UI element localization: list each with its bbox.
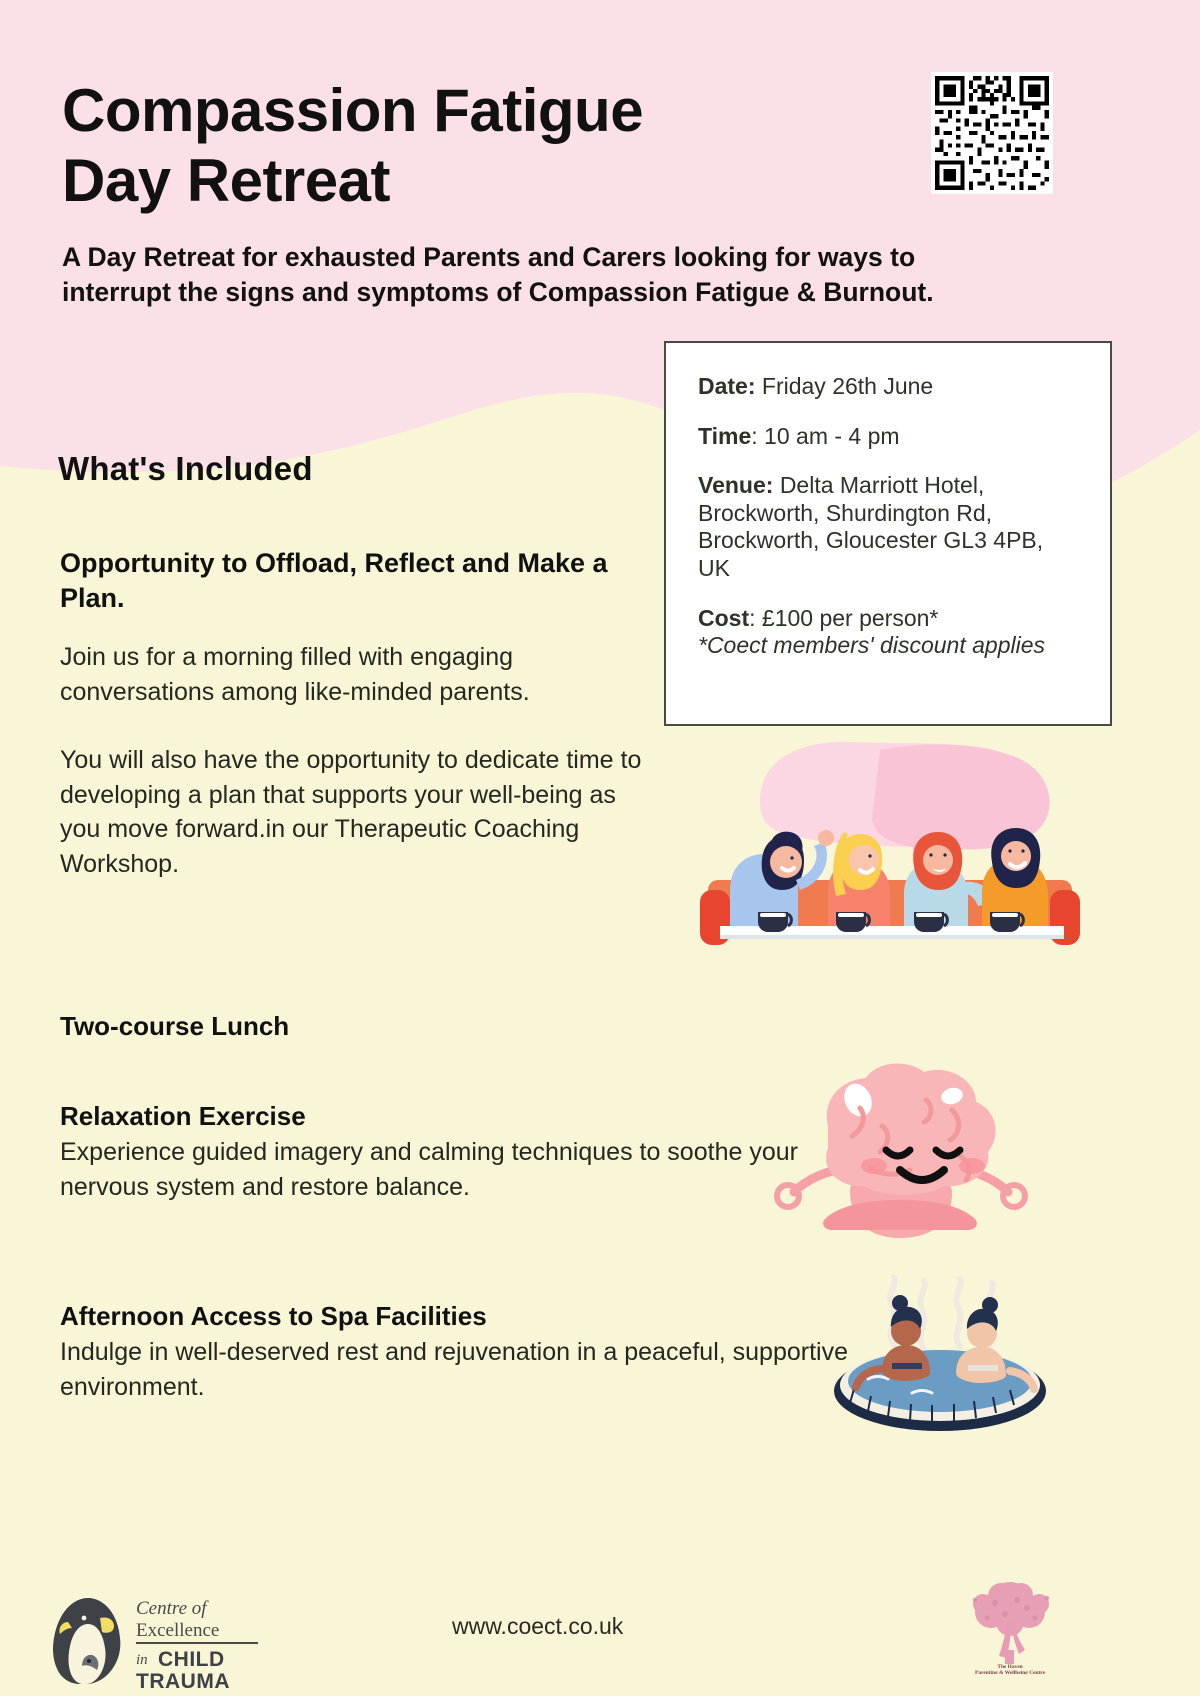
section-heading-included: What's Included [58, 450, 313, 488]
detail-date-label: Date: [698, 373, 756, 399]
women-talking-coffee-illustration [700, 730, 1080, 955]
svg-text:Centre of: Centre of [136, 1598, 209, 1619]
detail-time-value: : 10 am - 4 pm [751, 423, 899, 449]
included-block-paragraph: You will also have the opportunity to de… [60, 743, 660, 881]
included-block-heading: Afternoon Access to Spa Facilities [60, 1300, 850, 1333]
svg-text:Excellence: Excellence [136, 1620, 219, 1641]
pink-tree-logo-icon: The Haven Parenting & Wellbeing Centre [955, 1578, 1065, 1696]
detail-date-value: Friday 26th June [762, 373, 933, 399]
detail-cost-label: Cost [698, 605, 749, 631]
detail-cost-note: *Coect members' discount applies [698, 632, 1080, 660]
penguin-logo-icon: Centre of Excellence in CHILD TRAUMA [40, 1588, 270, 1688]
detail-cost-value: : £100 per person* [749, 605, 938, 631]
included-block-spa: Afternoon Access to Spa Facilities Indul… [60, 1300, 850, 1404]
detail-cost: Cost: £100 per person* *Coect members' d… [698, 605, 1080, 660]
included-block-paragraph: Join us for a morning filled with engagi… [60, 640, 660, 709]
svg-text:in: in [136, 1652, 148, 1668]
included-block-lunch: Two-course Lunch [60, 1010, 660, 1045]
spa-hot-tub-illustration [820, 1275, 1060, 1440]
detail-time-label: Time [698, 423, 751, 449]
qr-code-icon[interactable] [931, 72, 1053, 194]
included-block-paragraph: Indulge in well-deserved rest and rejuve… [60, 1335, 850, 1404]
website-url[interactable]: www.coect.co.uk [452, 1613, 623, 1640]
included-block-offload: Opportunity to Offload, Reflect and Make… [60, 546, 660, 881]
page-title: Compassion Fatigue Day Retreat [62, 76, 902, 216]
svg-text:TRAUMA: TRAUMA [136, 1670, 230, 1688]
svg-text:CHILD: CHILD [158, 1648, 225, 1671]
included-block-paragraph: Experience guided imagery and calming te… [60, 1135, 800, 1204]
detail-date: Date: Friday 26th June [698, 373, 1080, 401]
included-block-relaxation: Relaxation Exercise Experience guided im… [60, 1100, 800, 1204]
poster-root: Compassion Fatigue Day Retreat A Day Ret… [0, 0, 1200, 1696]
detail-time: Time: 10 am - 4 pm [698, 423, 1080, 451]
page-subtitle: A Day Retreat for exhausted Parents and … [62, 240, 1002, 310]
haven-logo-line2: Parenting & Wellbeing Centre [975, 1670, 1046, 1674]
included-block-heading: Relaxation Exercise [60, 1100, 800, 1133]
included-block-heading: Opportunity to Offload, Reflect and Make… [60, 546, 660, 616]
meditating-brain-illustration [730, 1040, 1050, 1255]
included-block-heading: Two-course Lunch [60, 1010, 660, 1043]
detail-venue: Venue: Delta Marriott Hotel, Brockworth,… [698, 472, 1080, 582]
detail-venue-label: Venue: [698, 472, 773, 498]
event-details-box: Date: Friday 26th June Time: 10 am - 4 p… [664, 341, 1112, 726]
